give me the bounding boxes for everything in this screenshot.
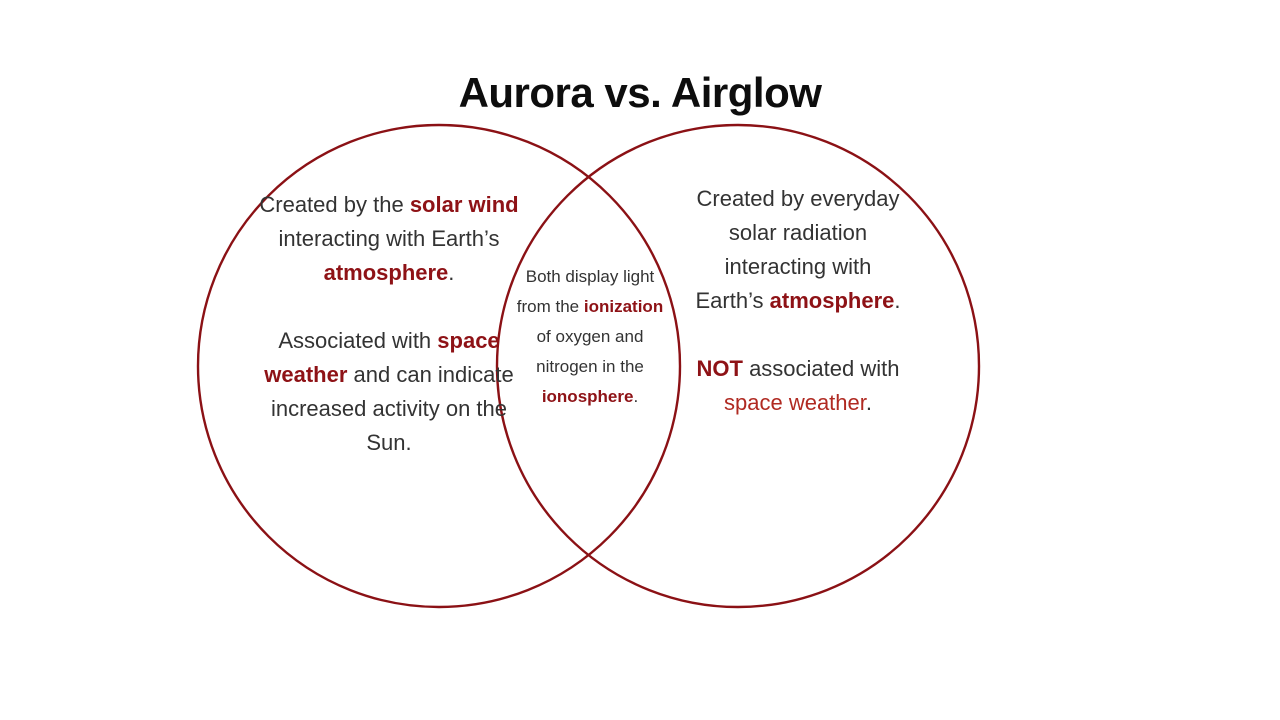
right-p1-run-3: . <box>894 288 900 313</box>
left-p1-run-1: Created by the <box>259 192 409 217</box>
left-p2-run-1: Associated with <box>278 328 437 353</box>
right-p2-run-4: . <box>866 390 872 415</box>
left-paragraph-2: Associated with space weather and can in… <box>258 324 520 460</box>
airglow-region-text: Created by everyday solar radiation inte… <box>688 182 908 420</box>
left-p1-run-5: . <box>448 260 454 285</box>
center-p1-highlight-ionosphere: ionosphere <box>542 387 634 406</box>
left-p1-highlight-solar-wind: solar wind <box>410 192 519 217</box>
center-p1-run-5: . <box>633 387 638 406</box>
left-p1-run-3: interacting with Earth’s <box>279 226 500 251</box>
left-paragraph-1: Created by the solar wind interacting wi… <box>258 188 520 290</box>
left-p1-highlight-atmosphere: atmosphere <box>324 260 449 285</box>
center-paragraph-1: Both display light from the ionization o… <box>508 262 672 412</box>
aurora-region-text: Created by the solar wind interacting wi… <box>258 188 520 460</box>
right-paragraph-2: NOT associated with space weather. <box>688 352 908 420</box>
venn-diagram: Created by the solar wind interacting wi… <box>0 0 1280 720</box>
center-p1-run-3: of oxygen and nitrogen in the <box>536 327 644 376</box>
right-p1-highlight-atmosphere: atmosphere <box>770 288 895 313</box>
right-p2-run-2: associated with <box>743 356 900 381</box>
right-p2-highlight-not: NOT <box>697 356 743 381</box>
right-p2-highlight-space-weather: space weather <box>724 390 866 415</box>
center-p1-highlight-ionization: ionization <box>584 297 663 316</box>
overlap-region-text: Both display light from the ionization o… <box>508 262 672 412</box>
right-paragraph-1: Created by everyday solar radiation inte… <box>688 182 908 318</box>
